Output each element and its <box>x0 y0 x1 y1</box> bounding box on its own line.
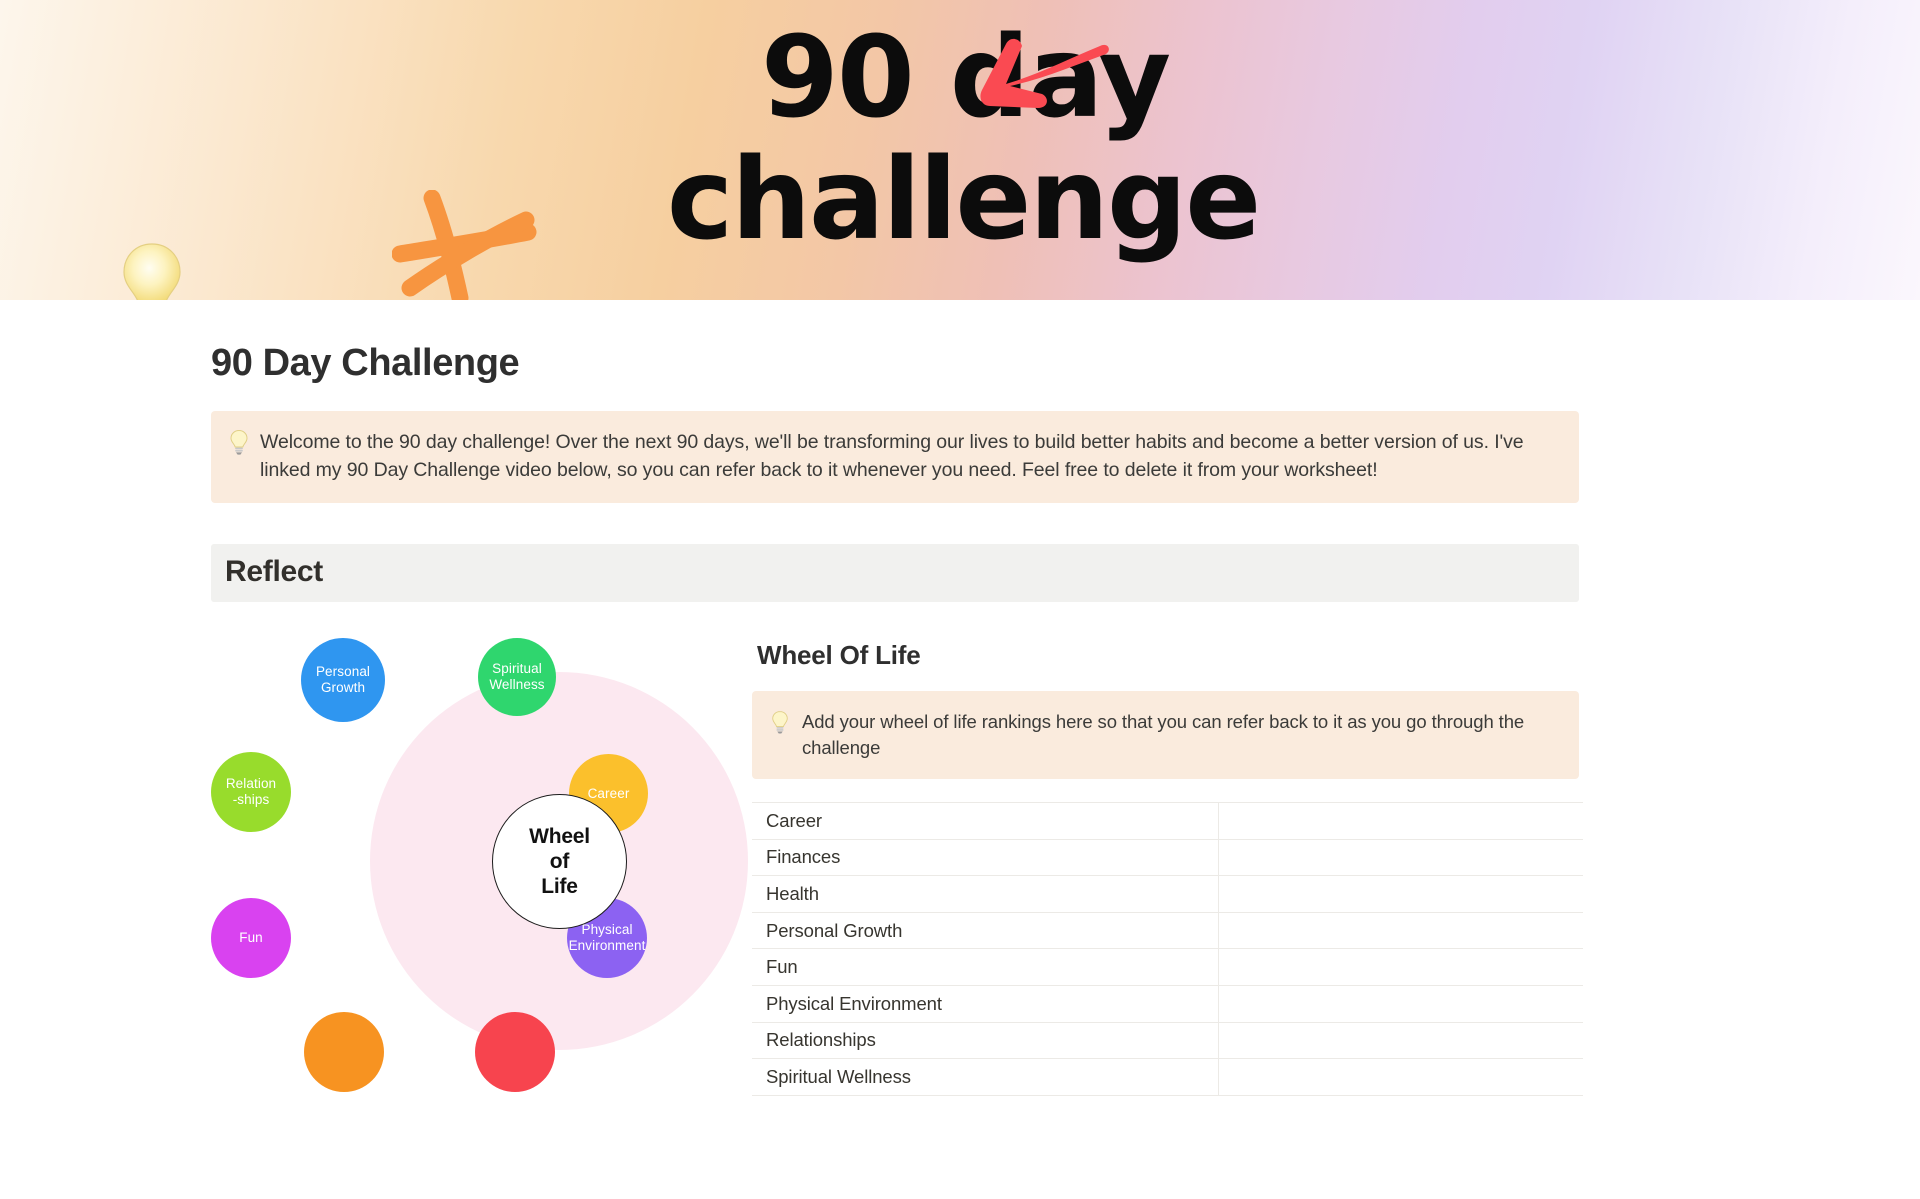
wheel-node-label: Spiritual <box>489 661 544 677</box>
wheel-node-relation-ships[interactable]: Relation-ships <box>211 752 291 832</box>
table-row: Fun <box>752 949 1583 986</box>
red-arrow-icon <box>960 28 1110 118</box>
table-cell-label[interactable]: Physical Environment <box>752 985 1218 1022</box>
wheel-node-label: Environment <box>569 938 646 954</box>
content-container: 90 Day Challenge Welcome to the 90 day c… <box>110 342 1810 1128</box>
wheel-of-life-panel: Wheel Of Life Add your wheel of life ran… <box>748 620 1579 1128</box>
wheel-node-label: Growth <box>316 680 370 696</box>
content-inner: 90 Day Challenge Welcome to the 90 day c… <box>211 342 1579 1128</box>
wheel-node-fun[interactable]: Fun <box>211 898 291 978</box>
table-cell-label[interactable]: Career <box>752 803 1218 840</box>
table-cell-label[interactable]: Finances <box>752 839 1218 876</box>
wheel-panel-callout: Add your wheel of life rankings here so … <box>752 691 1579 779</box>
wheel-node-personal-growth[interactable]: PersonalGrowth <box>301 638 385 722</box>
wheel-of-life-table: CareerFinancesHealthPersonal GrowthFunPh… <box>752 802 1583 1096</box>
table-cell-value[interactable] <box>1218 803 1583 840</box>
page-title: 90 Day Challenge <box>211 342 1579 385</box>
wheel-node-label: Career <box>588 786 630 802</box>
table-cell-value[interactable] <box>1218 1059 1583 1096</box>
table-row: Relationships <box>752 1022 1583 1059</box>
wheel-node-unlabeled-6[interactable] <box>304 1012 384 1092</box>
intro-callout-text: Welcome to the 90 day challenge! Over th… <box>260 428 1561 484</box>
wheel-node-label: Fun <box>239 930 263 946</box>
wheel-hub-line3: Life <box>529 874 590 899</box>
reflect-section-header: Reflect <box>211 544 1579 602</box>
table-cell-value[interactable] <box>1218 912 1583 949</box>
table-cell-label[interactable]: Spiritual Wellness <box>752 1059 1218 1096</box>
table-row: Spiritual Wellness <box>752 1059 1583 1096</box>
wheel-node-spiritual-wellness[interactable]: SpiritualWellness <box>478 638 556 716</box>
wheel-hub-line1: Wheel <box>529 824 590 849</box>
table-cell-value[interactable] <box>1218 876 1583 913</box>
table-cell-label[interactable]: Personal Growth <box>752 912 1218 949</box>
table-row: Personal Growth <box>752 912 1583 949</box>
table-cell-label[interactable]: Health <box>752 876 1218 913</box>
intro-callout: Welcome to the 90 day challenge! Over th… <box>211 411 1579 503</box>
table-row: Finances <box>752 839 1583 876</box>
wheel-hub-line2: of <box>529 849 590 874</box>
wheel-hub: Wheel of Life <box>492 794 627 929</box>
wheel-node-label: Personal <box>316 664 370 680</box>
light-bulb-emoji <box>120 242 184 300</box>
banner-title-line2: challenge <box>0 144 1920 256</box>
wheel-diagram-column: PersonalGrowthSpiritualWellnessCareerPhy… <box>211 620 748 1128</box>
wheel-of-life-diagram: PersonalGrowthSpiritualWellnessCareerPhy… <box>211 628 748 1128</box>
light-bulb-icon <box>228 429 250 455</box>
table-row: Health <box>752 876 1583 913</box>
light-bulb-icon <box>770 710 790 734</box>
table-cell-label[interactable]: Fun <box>752 949 1218 986</box>
page-body: 90 Day Challenge Welcome to the 90 day c… <box>0 342 1920 1128</box>
table-cell-value[interactable] <box>1218 985 1583 1022</box>
wheel-node-label: Relation <box>226 776 276 792</box>
wheel-panel-heading: Wheel Of Life <box>757 640 1579 671</box>
table-cell-value[interactable] <box>1218 1022 1583 1059</box>
wheel-node-unlabeled-7[interactable] <box>475 1012 555 1092</box>
table-cell-label[interactable]: Relationships <box>752 1022 1218 1059</box>
page-cover-banner: 90 day challenge <box>0 0 1920 300</box>
wheel-node-label: Wellness <box>489 677 544 693</box>
wheel-node-label: -ships <box>226 792 276 808</box>
reflect-columns: PersonalGrowthSpiritualWellnessCareerPhy… <box>211 620 1579 1128</box>
reflect-heading: Reflect <box>225 555 1565 589</box>
table-row: Physical Environment <box>752 985 1583 1022</box>
table-cell-value[interactable] <box>1218 949 1583 986</box>
wheel-panel-callout-text: Add your wheel of life rankings here so … <box>802 709 1561 761</box>
table-row: Career <box>752 803 1583 840</box>
orange-star-icon <box>392 190 537 300</box>
table-cell-value[interactable] <box>1218 839 1583 876</box>
